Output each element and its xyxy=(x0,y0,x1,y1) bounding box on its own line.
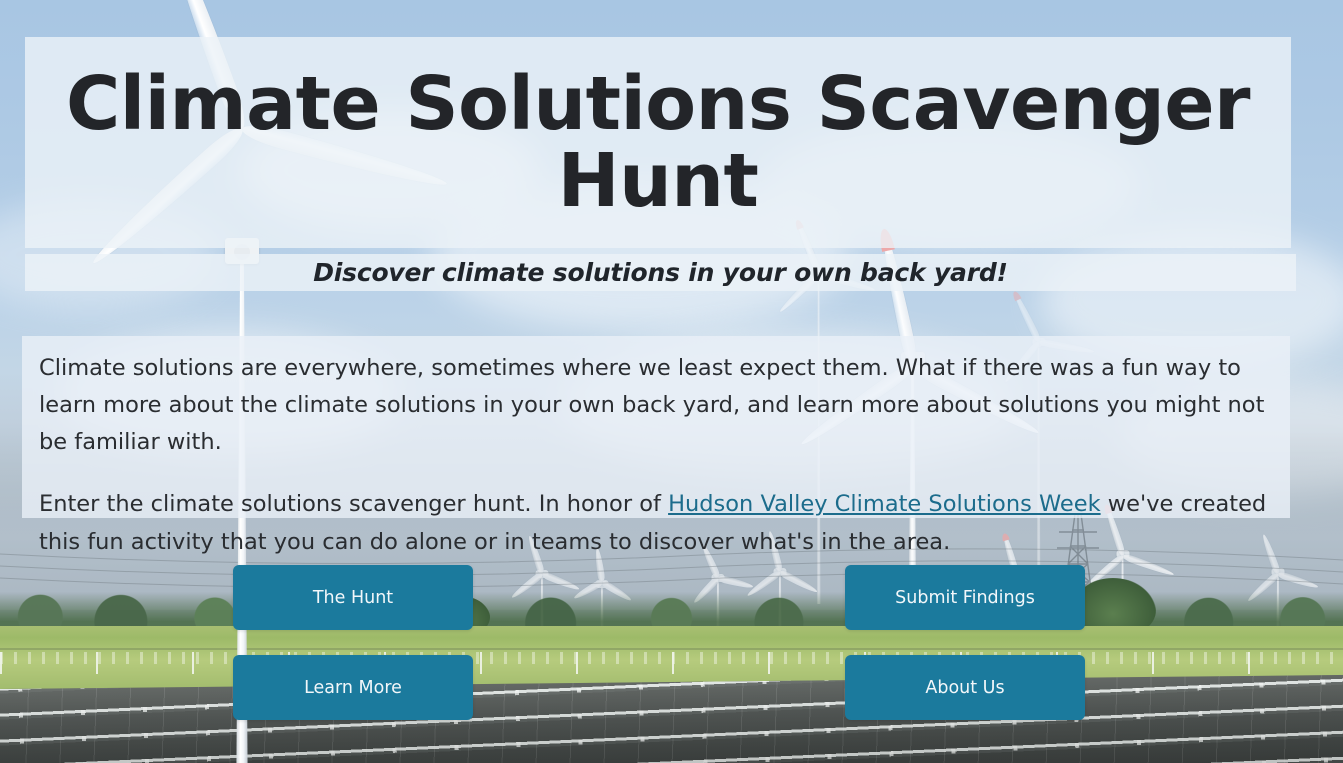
intro-paragraph-1: Climate solutions are everywhere, someti… xyxy=(39,350,1274,461)
landing-page: Climate Solutions Scavenger Hunt Discove… xyxy=(0,0,1343,763)
field-edge-line xyxy=(0,648,1343,650)
solar-panel-array xyxy=(0,675,1343,763)
page-subtitle: Discover climate solutions in your own b… xyxy=(313,258,1008,287)
hudson-valley-climate-solutions-week-link[interactable]: Hudson Valley Climate Solutions Week xyxy=(668,491,1101,517)
learn-more-button[interactable]: Learn More xyxy=(233,655,473,720)
intro-text-panel: Climate solutions are everywhere, someti… xyxy=(22,336,1290,518)
fence-posts xyxy=(0,652,1343,674)
page-title: Climate Solutions Scavenger Hunt xyxy=(25,66,1291,220)
about-us-button[interactable]: About Us xyxy=(845,655,1085,720)
hero-subtitle-panel: Discover climate solutions in your own b… xyxy=(25,254,1296,291)
submit-findings-button[interactable]: Submit Findings xyxy=(845,565,1085,630)
intro-paragraph-2: Enter the climate solutions scavenger hu… xyxy=(39,486,1274,560)
the-hunt-button[interactable]: The Hunt xyxy=(233,565,473,630)
paragraph-2-lead-text: Enter the climate solutions scavenger hu… xyxy=(39,491,668,517)
hero-title-panel: Climate Solutions Scavenger Hunt xyxy=(25,37,1291,248)
